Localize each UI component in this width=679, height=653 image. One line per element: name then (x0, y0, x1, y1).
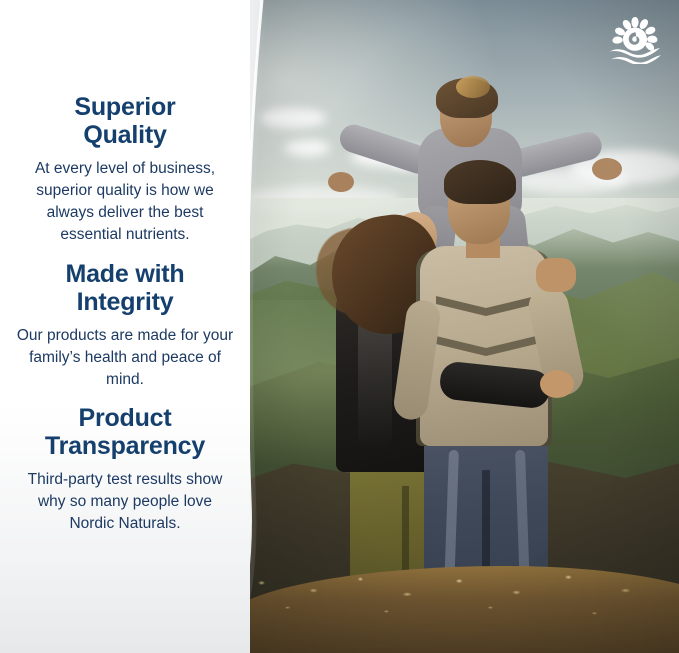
family-lifestyle-photo (240, 0, 679, 653)
value-heading-line-1: Product (78, 404, 171, 432)
marketing-banner: SuperiorQuality At every level of busine… (0, 0, 679, 653)
value-body: At every level of business, superior qua… (14, 158, 236, 246)
value-heading: ProductTransparency (14, 404, 236, 460)
value-block-made-with-integrity: Made withIntegrity Our products are made… (14, 260, 236, 391)
value-heading: SuperiorQuality (14, 93, 236, 149)
value-heading-line-1: Superior (74, 93, 175, 121)
value-body: Third-party test results show why so man… (14, 469, 236, 535)
sun-wave-logo-icon (605, 14, 667, 64)
value-heading-line-2: Integrity (77, 288, 174, 316)
value-block-product-transparency: ProductTransparency Third-party test res… (14, 404, 236, 535)
value-heading-line-2: Transparency (45, 432, 205, 460)
value-block-superior-quality: SuperiorQuality At every level of busine… (14, 93, 236, 246)
value-body: Our products are made for your family’s … (14, 325, 236, 391)
value-heading-line-2: Quality (83, 121, 166, 149)
value-heading: Made withIntegrity (14, 260, 236, 316)
photo-vignette (240, 0, 679, 653)
value-heading-line-1: Made with (65, 260, 184, 288)
content-panel: SuperiorQuality At every level of busine… (0, 0, 250, 653)
